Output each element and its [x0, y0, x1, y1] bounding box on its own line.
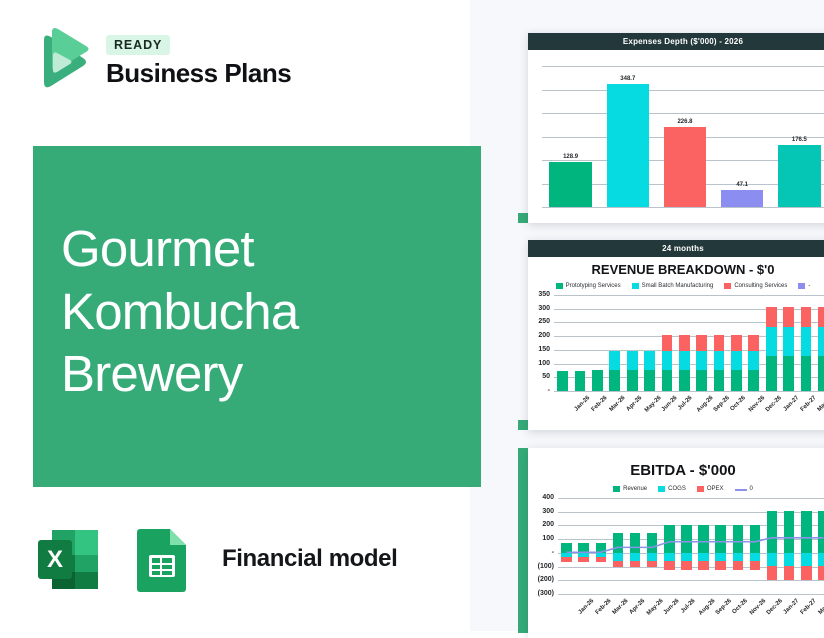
chart-plot-ebitda: 400300200100-(100)(200)(300)Jan-26Feb-26… — [528, 492, 824, 632]
chart-bar-segment — [679, 335, 690, 351]
chart-bar-segment — [627, 351, 638, 370]
gridline — [554, 295, 824, 296]
x-axis-label: Apr-26 — [626, 395, 644, 413]
x-axis-label: Jul-26 — [677, 395, 694, 412]
chart-bar-segment — [714, 370, 725, 391]
legend-swatch — [735, 489, 747, 491]
chart-bar-segment — [714, 335, 725, 351]
chart-bar-segment — [783, 327, 794, 356]
footer-label: Financial model — [222, 545, 397, 573]
chart-bar-segment — [748, 351, 759, 370]
chart-title-ebitda: EBITDA - $'000 — [528, 462, 824, 479]
bar-data-label: 176.5 — [778, 137, 820, 143]
chart-bar-segment — [766, 307, 777, 327]
chart-bar-segment — [696, 335, 707, 351]
y-axis-label: 300 — [528, 305, 550, 312]
x-axis-label: Nov-26 — [748, 395, 766, 413]
chart-card-revenue-breakdown[interactable]: 24 months REVENUE BREAKDOWN - $'0 Protot… — [528, 240, 824, 430]
footer-row: X Financial model — [30, 521, 397, 597]
chart-bar — [664, 127, 706, 207]
chart-bar-segment — [679, 351, 690, 370]
bar-data-label: 348.7 — [607, 76, 649, 82]
chart-bar — [549, 162, 591, 207]
y-axis-label: - — [528, 387, 550, 394]
gridline — [542, 66, 824, 67]
play-triangles-logo-icon — [30, 26, 92, 96]
chart-bar-segment — [766, 327, 777, 356]
y-axis-label: 150 — [528, 346, 550, 353]
chart-bar-segment — [748, 335, 759, 351]
gridline — [542, 207, 824, 208]
y-axis-label: 350 — [528, 291, 550, 298]
ready-badge: READY — [106, 35, 170, 55]
chart-bar-segment — [662, 351, 673, 370]
chart-bar-segment — [644, 351, 655, 370]
chart-bar-segment — [801, 327, 812, 356]
x-axis-label: May-26 — [644, 395, 663, 414]
gridline — [542, 113, 824, 114]
brand-name: Business Plans — [106, 60, 291, 87]
x-axis-label: Aug-26 — [696, 395, 715, 414]
svg-text:X: X — [47, 546, 63, 573]
x-axis-label: Mar-27 — [817, 395, 824, 413]
chart-bar-segment — [818, 307, 824, 327]
page-title: Gourmet Kombucha Brewery — [61, 218, 461, 406]
chart-bar — [778, 145, 820, 207]
chart-bar-segment — [696, 370, 707, 391]
chart-bar-segment — [783, 307, 794, 327]
chart-bar-segment — [557, 371, 568, 391]
chart-bar-segment — [696, 351, 707, 370]
x-axis-label: Sep-26 — [713, 395, 731, 413]
chart-bar-segment — [662, 370, 673, 391]
chart-bar-segment — [644, 370, 655, 391]
title-line-2: Kombucha — [61, 281, 461, 344]
trend-line — [528, 492, 824, 632]
bar-data-label: 128.9 — [549, 154, 591, 160]
y-axis-label: 50 — [528, 373, 550, 380]
y-axis-label: 250 — [528, 318, 550, 325]
chart-bar-segment — [731, 351, 742, 370]
chart-bar-segment — [783, 356, 794, 391]
hero-panel: Gourmet Kombucha Brewery — [33, 146, 481, 487]
chart-bar-segment — [731, 335, 742, 351]
chart-bar-segment — [592, 370, 603, 391]
title-line-3: Brewery — [61, 343, 461, 406]
chart-plot-revenue: 35030025020015010050-Jan-26Feb-26Mar-26A… — [528, 289, 824, 429]
chart-header-expenses: Expenses Depth ($'000) - 2026 — [528, 33, 824, 50]
slide-canvas: READY Business Plans Gourmet Kombucha Br… — [0, 0, 824, 631]
y-axis-label: 100 — [528, 360, 550, 367]
chart-bar-segment — [679, 370, 690, 391]
chart-bar-segment — [818, 356, 824, 391]
gridline — [554, 391, 824, 392]
chart-bar-segment — [714, 351, 725, 370]
gridline — [542, 90, 824, 91]
x-axis-label: Jan-27 — [782, 395, 800, 413]
chart-bar-segment — [609, 351, 620, 370]
chart-bar-segment — [801, 307, 812, 327]
x-axis-label: Mar-26 — [608, 395, 626, 413]
bar-data-label: 47.1 — [721, 182, 763, 188]
x-axis-label: Feb-27 — [800, 395, 818, 413]
chart-header-24-months: 24 months — [528, 240, 824, 257]
y-axis-label: 200 — [528, 332, 550, 339]
x-axis-label: Feb-26 — [591, 395, 609, 413]
google-sheets-icon — [123, 521, 199, 597]
chart-bar — [607, 84, 649, 207]
chart-bar-segment — [627, 370, 638, 391]
chart-bar-segment — [609, 370, 620, 391]
chart-bar-segment — [731, 370, 742, 391]
chart-plot-expenses: 128.9348.7226.847.1176.5 — [528, 50, 824, 215]
x-axis-label: Oct-26 — [730, 395, 747, 412]
x-axis-label: Dec-26 — [765, 395, 783, 413]
chart-card-expenses-depth[interactable]: Expenses Depth ($'000) - 2026 128.9348.7… — [528, 33, 824, 223]
chart-bar-segment — [748, 370, 759, 391]
chart-card-ebitda[interactable]: EBITDA - $'000 RevenueCOGSOPEX0 40030020… — [528, 448, 824, 638]
chart-bar — [721, 190, 763, 207]
chart-bar-segment — [575, 371, 586, 391]
bar-data-label: 226.8 — [664, 119, 706, 125]
chart-bar-segment — [766, 356, 777, 391]
x-axis-label: Jan-26 — [574, 395, 592, 413]
x-axis-label: Jun-26 — [661, 395, 679, 413]
title-line-1: Gourmet — [61, 218, 461, 281]
microsoft-excel-icon: X — [30, 521, 106, 597]
chart-title-revenue: REVENUE BREAKDOWN - $'0 — [528, 262, 824, 277]
chart-bar-segment — [662, 335, 673, 351]
chart-bar-segment — [801, 356, 812, 391]
chart-bar-segment — [818, 327, 824, 356]
brand-lockup: READY Business Plans — [30, 26, 291, 96]
